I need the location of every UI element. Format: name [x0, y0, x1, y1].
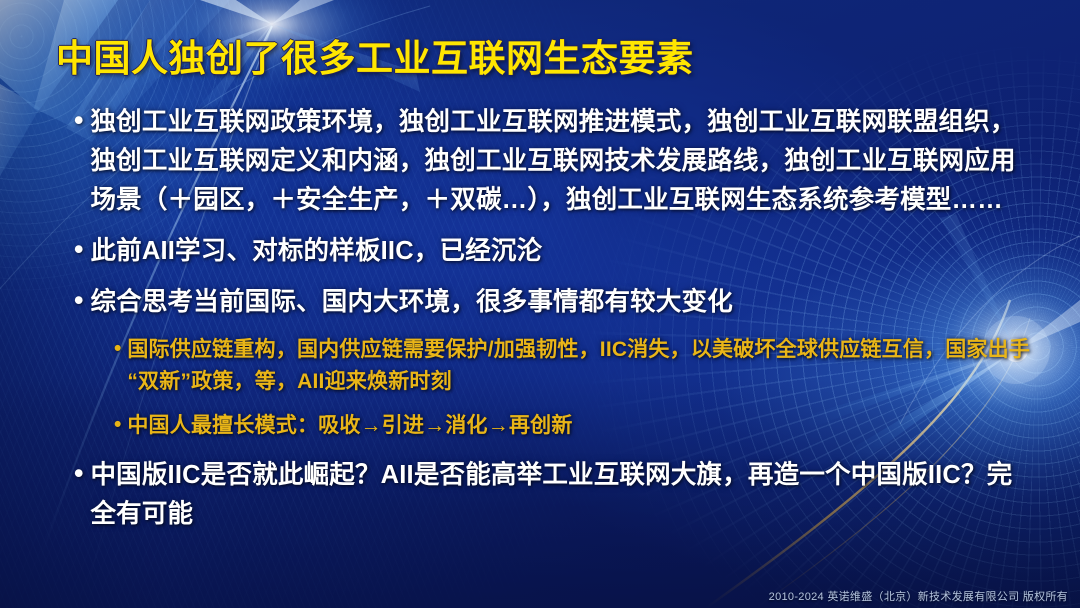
- slide-content: 中国人独创了很多工业互联网生态要素 • 独创工业互联网政策环境，独创工业互联网推…: [0, 0, 1080, 608]
- bullet-marker-icon: •: [114, 410, 121, 442]
- bullet-list: • 独创工业互联网政策环境，独创工业互联网推进模式，独创工业互联网联盟组织，独创…: [74, 103, 1038, 543]
- bullet-marker-icon: •: [74, 283, 83, 322]
- presentation-slide: 中国人独创了很多工业互联网生态要素 • 独创工业互联网政策环境，独创工业互联网推…: [0, 0, 1080, 608]
- bullet-marker-icon: •: [74, 232, 83, 271]
- copyright-footer: 2010-2024 英诺维盛（北京）新技术发展有限公司 版权所有: [769, 588, 1068, 604]
- bullet-text: 独创工业互联网政策环境，独创工业互联网推进模式，独创工业互联网联盟组织，独创工业…: [90, 103, 1038, 220]
- bullet-marker-icon: •: [74, 103, 83, 220]
- bullet-text: 此前AII学习、对标的样板IIC，已经沉沦: [90, 232, 1038, 271]
- bullet-marker-icon: •: [74, 456, 83, 534]
- bullet-item-2: • 此前AII学习、对标的样板IIC，已经沉沦: [74, 232, 1038, 271]
- page-title: 中国人独创了很多工业互联网生态要素: [56, 28, 694, 82]
- sub-bullet-text: 中国人最擅长模式：吸收→引进→消化→再创新: [127, 410, 1038, 442]
- sub-bullet-item-1: • 国际供应链重构，国内供应链需要保护/加强韧性，IIC消失，以美破坏全球供应链…: [114, 334, 1038, 398]
- bullet-marker-icon: •: [114, 334, 121, 398]
- sub-bullet-item-2: • 中国人最擅长模式：吸收→引进→消化→再创新: [114, 410, 1038, 442]
- bullet-item-3: • 综合思考当前国际、国内大环境，很多事情都有较大变化: [74, 283, 1038, 322]
- sub-bullet-text: 国际供应链重构，国内供应链需要保护/加强韧性，IIC消失，以美破坏全球供应链互信…: [127, 334, 1038, 398]
- bullet-item-4: • 中国版IIC是否就此崛起？AII是否能高举工业互联网大旗，再造一个中国版II…: [74, 456, 1038, 534]
- bullet-text: 综合思考当前国际、国内大环境，很多事情都有较大变化: [90, 283, 1038, 322]
- bullet-text: 中国版IIC是否就此崛起？AII是否能高举工业互联网大旗，再造一个中国版IIC？…: [90, 456, 1038, 534]
- bullet-item-1: • 独创工业互联网政策环境，独创工业互联网推进模式，独创工业互联网联盟组织，独创…: [74, 103, 1038, 220]
